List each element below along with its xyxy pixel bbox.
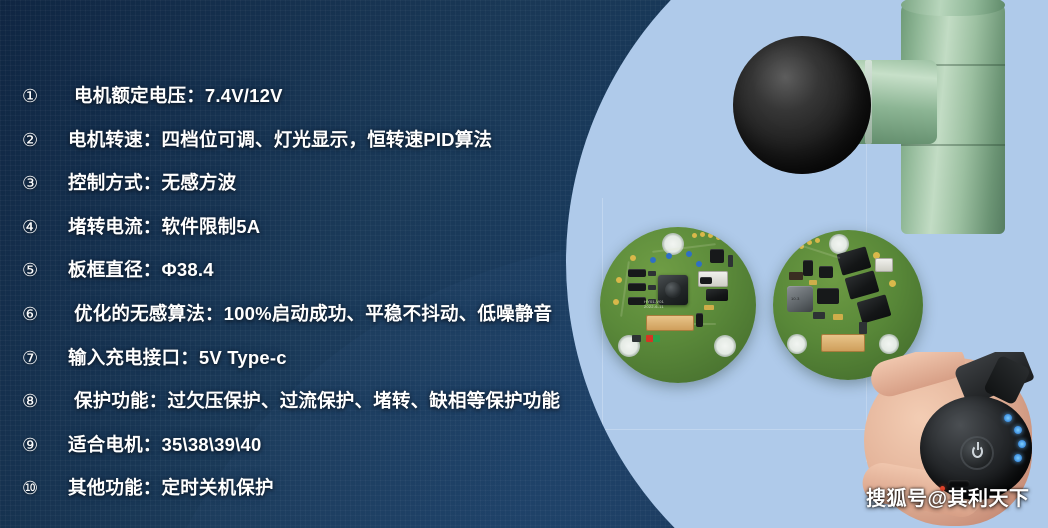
level-led-3 <box>1018 440 1026 448</box>
spec-text-4: 堵转电流：软件限制5A <box>68 213 260 239</box>
smd-component <box>833 314 843 320</box>
solder-pad <box>700 232 705 237</box>
spec-number-4: ④ <box>0 218 68 236</box>
solder-pad <box>613 299 619 305</box>
spec-number-8: ⑧ <box>0 392 68 410</box>
massage-gun-product-image <box>745 0 1048 232</box>
pcb-board-front: HY01-V012022-6-11 <box>600 227 756 383</box>
smd-component <box>648 285 656 290</box>
spec-text-6: 优化的无感算法：100%启动成功、平稳不抖动、低噪静音 <box>68 300 552 326</box>
spec-number-5: ⑤ <box>0 261 68 279</box>
spec-item-6: ⑥ 优化的无感算法：100%启动成功、平稳不抖动、低噪静音 <box>0 300 600 344</box>
spec-item-5: ⑤ 板框直径：Φ38.4 <box>0 256 600 300</box>
smd-component <box>728 255 733 267</box>
led-indicator <box>696 261 702 267</box>
mosfet-package <box>845 270 880 299</box>
smd-component <box>648 271 656 276</box>
led-indicator <box>666 253 672 259</box>
spec-number-7: ⑦ <box>0 349 68 367</box>
mounting-hole <box>879 334 899 354</box>
smd-component <box>704 305 714 310</box>
ic-chip <box>628 269 646 277</box>
spec-item-7: ⑦ 输入充电接口：5V Type-c <box>0 344 600 388</box>
mounting-hole <box>787 334 807 354</box>
mosfet-package <box>857 294 892 323</box>
gun-seam-lower <box>901 144 1005 146</box>
solder-pad <box>708 233 713 238</box>
level-led-1 <box>1004 414 1012 422</box>
spec-number-3: ③ <box>0 174 68 192</box>
watermark: 搜狐号@其利天下 <box>866 482 1030 511</box>
mounting-hole <box>662 233 684 255</box>
led-indicator <box>686 251 692 257</box>
spec-item-1: ① 电机额定电压：7.4V/12V <box>0 82 600 126</box>
solder-pad <box>630 255 636 261</box>
solder-pad <box>616 277 622 283</box>
solder-pad <box>815 238 820 243</box>
jst-connector <box>875 258 893 272</box>
fpc-connector <box>646 315 694 331</box>
spec-number-2: ② <box>0 131 68 149</box>
smd-component <box>632 335 641 342</box>
ic-chip <box>803 260 813 276</box>
spec-text-1: 电机额定电压：7.4V/12V <box>68 82 283 108</box>
ic-chip <box>696 313 703 327</box>
spec-item-4: ④ 堵转电流：软件限制5A <box>0 213 600 257</box>
pcb-silkscreen-text: 10.3 <box>791 296 800 301</box>
solder-pad <box>716 235 721 240</box>
spec-text-10: 其他功能：定时关机保护 <box>68 474 274 500</box>
solder-pad <box>889 280 896 287</box>
spec-item-10: ⑩ 其他功能：定时关机保护 <box>0 474 600 518</box>
solder-pad <box>692 233 697 238</box>
spec-number-9: ⑨ <box>0 436 68 454</box>
level-led-4 <box>1014 454 1022 462</box>
ic-chip <box>710 249 724 263</box>
slide-canvas: HY01-V012022-6-11 10.3 <box>0 0 1048 528</box>
spec-number-1: ① <box>0 87 68 105</box>
power-icon <box>972 445 983 458</box>
fpc-connector <box>821 334 865 352</box>
mounting-hole <box>714 335 736 357</box>
smd-component <box>813 312 825 319</box>
status-led <box>646 335 660 342</box>
pcb-silkscreen-text: HY01-V012022-6-11 <box>644 299 664 309</box>
spec-item-2: ② 电机转速：四档位可调、灯光显示，恒转速PID算法 <box>0 126 600 170</box>
level-led-2 <box>1014 426 1022 434</box>
ic-chip <box>819 266 833 278</box>
smd-component <box>789 272 803 280</box>
smd-component <box>859 322 867 334</box>
spec-text-2: 电机转速：四档位可调、灯光显示，恒转速PID算法 <box>68 126 492 152</box>
spec-item-8: ⑧ 保护功能：过欠压保护、过流保护、堵转、缺相等保护功能 <box>0 387 600 431</box>
ic-chip <box>817 288 839 304</box>
spec-number-6: ⑥ <box>0 305 68 323</box>
spec-item-3: ③ 控制方式：无感方波 <box>0 169 600 213</box>
spec-text-5: 板框直径：Φ38.4 <box>68 256 214 282</box>
spec-text-3: 控制方式：无感方波 <box>68 169 236 195</box>
spec-text-9: 适合电机：35\38\39\40 <box>68 431 261 457</box>
mosfet-package <box>706 289 728 301</box>
spec-list: ① 电机额定电压：7.4V/12V ② 电机转速：四档位可调、灯光显示，恒转速P… <box>0 82 600 518</box>
spec-number-10: ⑩ <box>0 479 68 497</box>
spec-text-8: 保护功能：过欠压保护、过流保护、堵转、缺相等保护功能 <box>68 387 560 413</box>
gun-ball-head <box>733 36 871 174</box>
solder-pad <box>807 240 812 245</box>
ic-chip <box>700 277 712 284</box>
spec-item-9: ⑨ 适合电机：35\38\39\40 <box>0 431 600 475</box>
spec-text-7: 输入充电接口：5V Type-c <box>68 344 287 370</box>
led-indicator <box>650 257 656 263</box>
smd-component <box>809 280 817 285</box>
ic-chip <box>628 283 646 291</box>
